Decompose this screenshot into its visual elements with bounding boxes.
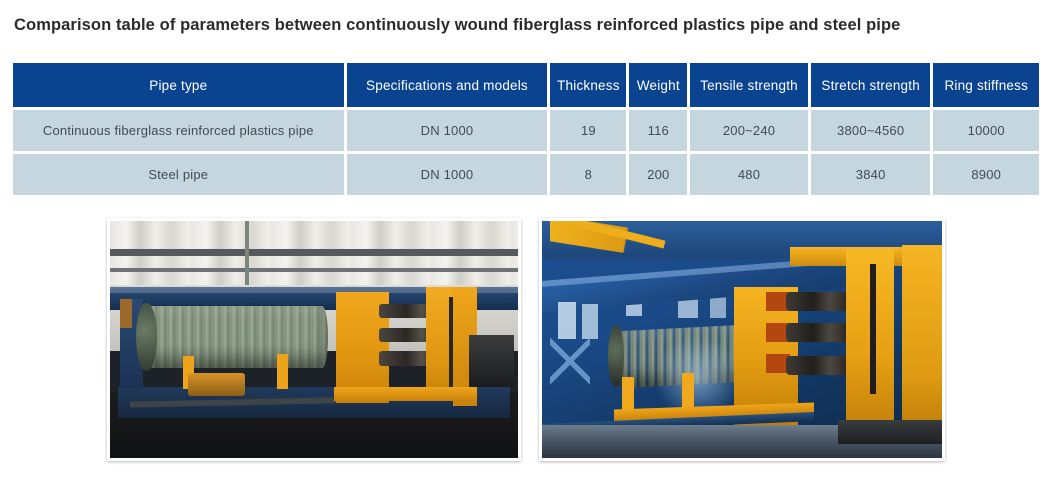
column-header-spec: Specifications and models [347, 63, 548, 107]
cell-weight: 116 [629, 110, 687, 151]
column-header-stretch: Stretch strength [811, 63, 931, 107]
cell-thickness: 19 [550, 110, 626, 151]
column-header-weight: Weight [629, 63, 687, 107]
cell-tensile: 480 [690, 154, 808, 195]
cell-ring: 8900 [933, 154, 1039, 195]
cell-stretch: 3800~4560 [811, 110, 931, 151]
column-header-tensile: Tensile strength [690, 63, 808, 107]
photo-right-canvas [542, 221, 942, 458]
photo-gallery [0, 216, 1051, 466]
cell-stretch: 3840 [811, 154, 931, 195]
cell-weight: 200 [629, 154, 687, 195]
cell-ring: 10000 [933, 110, 1039, 151]
photo-winding-machine-side-view [107, 218, 521, 461]
table-header: Pipe type Specifications and models Thic… [13, 63, 1039, 107]
cell-pipe-type: Steel pipe [13, 154, 344, 195]
column-header-pipe-type: Pipe type [13, 63, 344, 107]
cell-thickness: 8 [550, 154, 626, 195]
cell-pipe-type: Continuous fiberglass reinforced plastic… [13, 110, 344, 151]
cell-spec: DN 1000 [347, 154, 548, 195]
cell-spec: DN 1000 [347, 110, 548, 151]
table-row: Steel pipe DN 1000 8 200 480 3840 8900 [13, 154, 1039, 195]
table-row: Continuous fiberglass reinforced plastic… [13, 110, 1039, 151]
table-body: Continuous fiberglass reinforced plastic… [13, 110, 1039, 195]
photo-left-canvas [110, 221, 518, 458]
page-title: Comparison table of parameters between c… [14, 16, 1044, 35]
table-header-row: Pipe type Specifications and models Thic… [13, 63, 1039, 107]
photo-winding-machine-perspective-view [539, 218, 945, 461]
comparison-table: Pipe type Specifications and models Thic… [10, 60, 1042, 198]
cell-tensile: 200~240 [690, 110, 808, 151]
column-header-thickness: Thickness [550, 63, 626, 107]
column-header-ring: Ring stiffness [933, 63, 1039, 107]
